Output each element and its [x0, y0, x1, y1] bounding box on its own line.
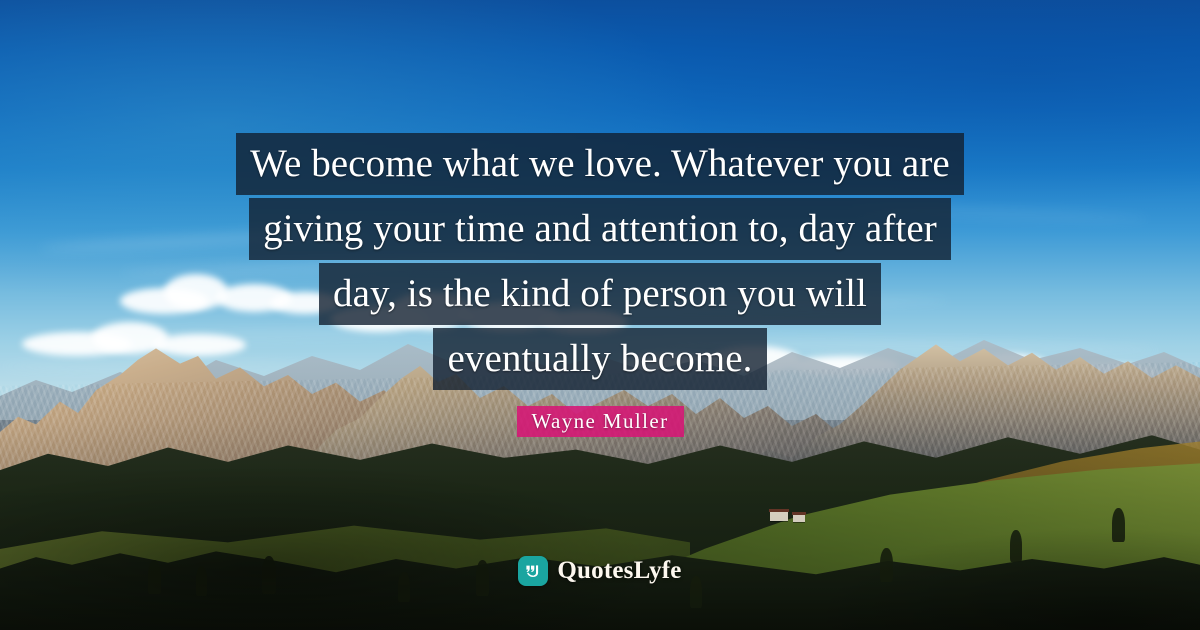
quote-text-block: We become what we love. Whatever you are…: [0, 133, 1200, 393]
author-name: Wayne Muller: [517, 406, 684, 437]
quote-line: giving your time and attention to, day a…: [249, 198, 951, 260]
farmhouse: [793, 515, 805, 522]
quote-line: eventually become.: [433, 328, 766, 390]
quote-line: day, is the kind of person you will: [319, 263, 881, 325]
author-attribution: Wayne Muller: [0, 406, 1200, 437]
site-branding[interactable]: QuotesLyfe: [0, 556, 1200, 586]
farmhouse: [770, 512, 788, 521]
quote-line: We become what we love. Whatever you are: [236, 133, 964, 195]
quote-card: We become what we love. Whatever you are…: [0, 0, 1200, 630]
conifer-tree: [1112, 508, 1125, 542]
quote-smiley-icon: [518, 556, 548, 586]
site-name: QuotesLyfe: [557, 556, 681, 586]
